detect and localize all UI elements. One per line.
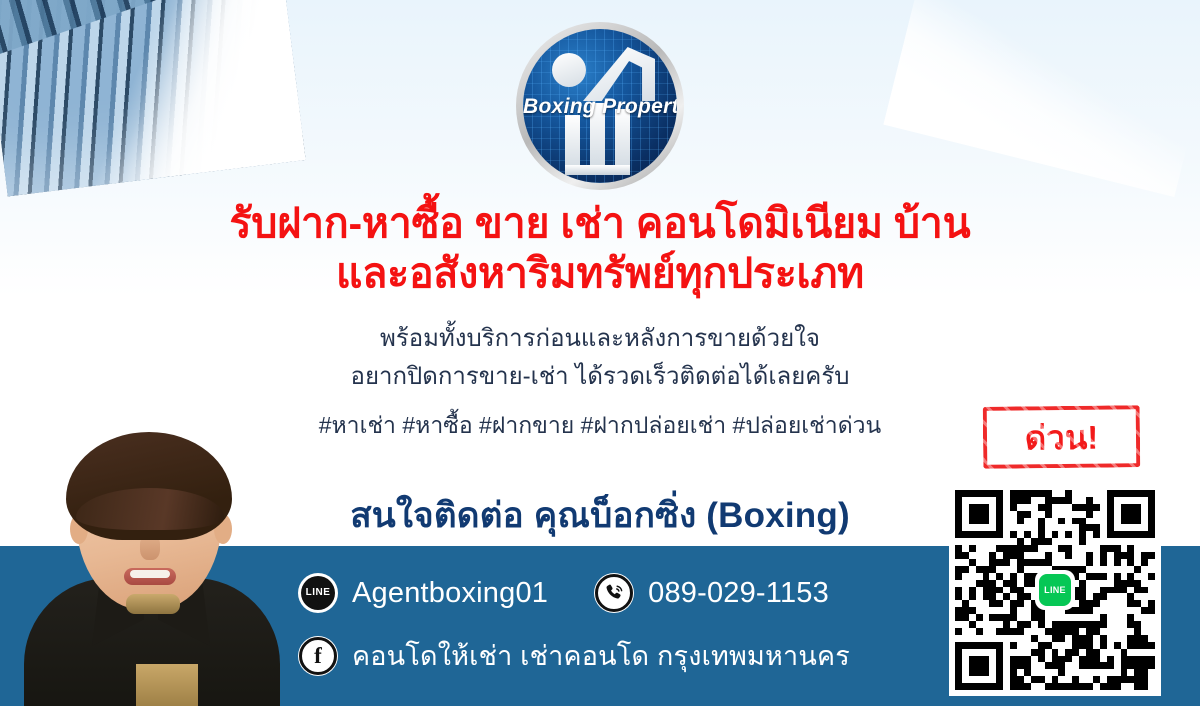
qr-line-badge-label: LINE xyxy=(1044,585,1066,595)
line-icon[interactable]: LINE xyxy=(298,573,338,613)
portrait-collar-knot xyxy=(126,594,180,614)
logo-text: Boxing Property xyxy=(523,95,677,119)
phone-icon[interactable] xyxy=(594,573,634,613)
facebook-page-value[interactable]: คอนโดให้เช่า เช่าคอนโด กรุงเทพมหานคร xyxy=(352,634,850,677)
building-rooftop-detail xyxy=(0,0,294,60)
line-icon-tail xyxy=(309,599,320,610)
headline-line-2: และอสังหาริมทรัพย์ทุกประเภท xyxy=(0,248,1200,298)
logo-person-head-icon xyxy=(552,53,586,87)
phone-number-value[interactable]: 089-029-1153 xyxy=(648,577,829,610)
facebook-icon-label: f xyxy=(314,644,322,667)
line-id-value[interactable]: Agentboxing01 xyxy=(352,577,548,610)
qr-line-badge-icon: LINE xyxy=(1035,570,1075,610)
contact-row-line-phone: LINE Agentboxing01 089-029-1153 xyxy=(298,573,829,613)
headline-line-1: รับฝาก-หาซื้อ ขาย เช่า คอนโดมิเนียม บ้าน xyxy=(0,198,1200,248)
logo-disc: Boxing Property xyxy=(523,29,677,183)
skyscraper-photo-left xyxy=(0,0,306,196)
headline: รับฝาก-หาซื้อ ขาย เช่า คอนโดมิเนียม บ้าน… xyxy=(0,198,1200,298)
subtitle: พร้อมทั้งบริการก่อนและหลังการขายด้วยใจ อ… xyxy=(0,320,1200,396)
portrait-teeth xyxy=(130,570,170,578)
agent-portrait-photo xyxy=(18,418,286,706)
portrait-hair xyxy=(66,432,232,540)
skyscraper-photo-right xyxy=(883,0,1200,197)
facebook-icon-ring: f xyxy=(299,637,337,675)
brand-logo: Boxing Property xyxy=(516,22,684,190)
phone-icon-ring xyxy=(595,574,633,612)
line-icon-label: LINE xyxy=(306,588,331,598)
contact-row-facebook: f คอนโดให้เช่า เช่าคอนโด กรุงเทพมหานคร xyxy=(298,634,850,677)
qr-line-badge-inner: LINE xyxy=(1039,574,1071,606)
subtitle-line-1: พร้อมทั้งบริการก่อนและหลังการขายด้วยใจ xyxy=(0,320,1200,358)
facebook-icon[interactable]: f xyxy=(298,636,338,676)
subtitle-line-2: อยากปิดการขาย-เช่า ได้รวดเร็วติดต่อได้เล… xyxy=(0,358,1200,396)
line-qr-code[interactable]: LINE xyxy=(949,484,1161,696)
urgent-stamp: ด่วน! xyxy=(983,405,1141,469)
urgent-stamp-label: ด่วน! xyxy=(1024,410,1098,464)
line-icon-bubble: LINE xyxy=(301,576,335,610)
real-estate-flyer: Boxing Property รับฝาก-หาซื้อ ขาย เช่า ค… xyxy=(0,0,1200,706)
portrait-name-badge xyxy=(136,664,198,706)
